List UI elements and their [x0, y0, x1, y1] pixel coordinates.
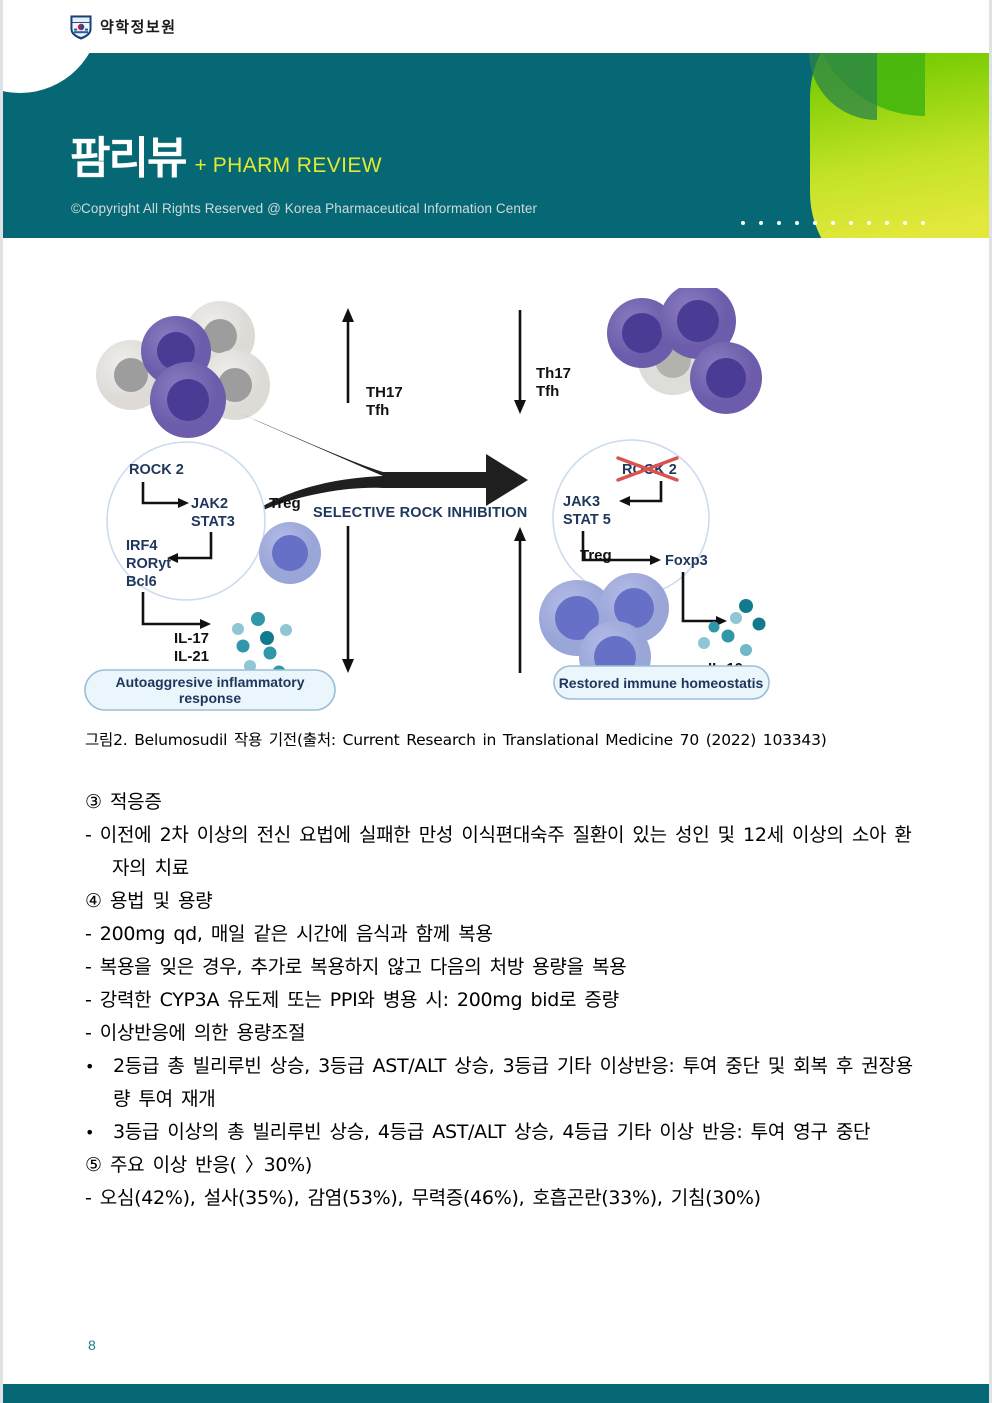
bullet-item: •2등급 총 빌리루빈 상승, 3등급 AST/ALT 상승, 3등급 기타 이…	[85, 1050, 915, 1116]
copyright-line: ©Copyright All Rights Reserved @ Korea P…	[71, 201, 537, 216]
kpic-shield-logo-icon	[70, 14, 92, 40]
bullet-text: 2등급 총 빌리루빈 상승, 3등급 AST/ALT 상승, 3등급 기타 이상…	[113, 1050, 915, 1116]
grid-dot	[849, 221, 853, 225]
brand-name-english: PHARM REVIEW	[213, 155, 382, 176]
section-heading: ⑤ 주요 이상 반응( 〉30%)	[85, 1149, 915, 1182]
label-selective-rock-inhibition: SELECTIVE ROCK INHIBITION	[313, 505, 527, 521]
figure-belumosudil-mechanism: .lbl { font-family:"Liberation Sans","De…	[83, 288, 773, 713]
label-foxp3: Foxp3	[665, 553, 708, 569]
label-tfh-left: Tfh	[366, 402, 389, 419]
grid-dot	[813, 221, 817, 225]
bullet-marker-icon: •	[85, 1116, 113, 1149]
label-box-left-line1: Autoaggresive inflammatory	[115, 674, 304, 690]
section-heading: ④ 용법 및 용량	[85, 885, 915, 918]
grid-dot	[777, 221, 781, 225]
bullet-text: 3등급 이상의 총 빌리루빈 상승, 4등급 AST/ALT 상승, 4등급 기…	[113, 1116, 915, 1149]
grid-dot	[741, 221, 745, 225]
label-box-left-line2: response	[179, 690, 241, 706]
bullet-item: •3등급 이상의 총 빌리루빈 상승, 4등급 AST/ALT 상승, 4등급 …	[85, 1116, 915, 1149]
dash-item: - 오심(42%), 설사(35%), 감염(53%), 무력증(46%), 호…	[85, 1182, 915, 1215]
grid-dot	[903, 221, 907, 225]
dash-item: - 200mg qd, 매일 같은 시간에 음식과 함께 복용	[85, 918, 915, 951]
grid-dot	[921, 221, 925, 225]
dash-item: - 강력한 CYP3A 유도제 또는 PPI와 병용 시: 200mg bid로…	[85, 984, 915, 1017]
dot-grid-decoration	[741, 221, 939, 238]
document-page: 약학정보원 팜리뷰 + PHARM REVIEW ©Copyright All …	[0, 0, 992, 1403]
dash-item: - 이상반응에 의한 용량조절	[85, 1017, 915, 1050]
label-irf4: IRF4	[126, 538, 157, 554]
label-roryt: RORyt	[126, 556, 171, 572]
content-blocks: ③ 적응증- 이전에 2차 이상의 전신 요법에 실패한 만성 이식편대숙주 질…	[85, 786, 915, 1215]
logo-wordmark: 약학정보원	[100, 16, 177, 37]
label-th17-right: Th17	[536, 365, 571, 382]
grid-dot	[867, 221, 871, 225]
document-body: 그림2. Belumosudil 작용 기전(출처: Current Resea…	[85, 728, 915, 1215]
label-stat3: STAT3	[191, 514, 235, 530]
logo-strip: 약학정보원	[3, 0, 989, 53]
label-th17-left: TH17	[366, 384, 403, 401]
treg-cell-left	[259, 522, 321, 584]
outcome-box-right: Restored immune homeostatis	[554, 666, 769, 699]
brand-banner: 팜리뷰 + PHARM REVIEW ©Copyright All Rights…	[3, 53, 992, 238]
outcome-box-left: Autoaggresive inflammatory response	[85, 670, 335, 710]
page-number: 8	[88, 1337, 96, 1353]
label-treg-left: Treg	[269, 495, 301, 512]
grid-dot	[885, 221, 889, 225]
label-stat5: STAT 5	[563, 512, 611, 528]
footer-bar	[3, 1384, 989, 1403]
grid-dot	[759, 221, 763, 225]
label-bcl6: Bcl6	[126, 574, 157, 590]
dash-item: - 복용을 잊은 경우, 추가로 복용하지 않고 다음의 처방 용량을 복용	[85, 951, 915, 984]
section-heading: ③ 적응증	[85, 786, 915, 819]
label-il21: IL-21	[174, 648, 209, 665]
label-jak3: JAK3	[563, 494, 600, 510]
figure-caption: 그림2. Belumosudil 작용 기전(출처: Current Resea…	[85, 728, 915, 750]
label-il17: IL-17	[174, 630, 209, 647]
banner-white-notch	[3, 53, 100, 93]
label-rock2-left: ROCK 2	[129, 462, 184, 478]
brand-name-korean: 팜리뷰	[70, 138, 185, 180]
brand-plus-symbol: +	[194, 155, 206, 176]
label-treg-right: Treg	[580, 547, 612, 564]
grid-dot	[831, 221, 835, 225]
label-box-right: Restored immune homeostatis	[559, 675, 764, 691]
banner-title: 팜리뷰 + PHARM REVIEW	[70, 138, 382, 180]
label-jak2: JAK2	[191, 496, 228, 512]
label-tfh-right: Tfh	[536, 383, 559, 400]
dash-item: - 이전에 2차 이상의 전신 요법에 실패한 만성 이식편대숙주 질환이 있는…	[85, 819, 915, 885]
bullet-marker-icon: •	[85, 1050, 113, 1083]
grid-dot	[795, 221, 799, 225]
